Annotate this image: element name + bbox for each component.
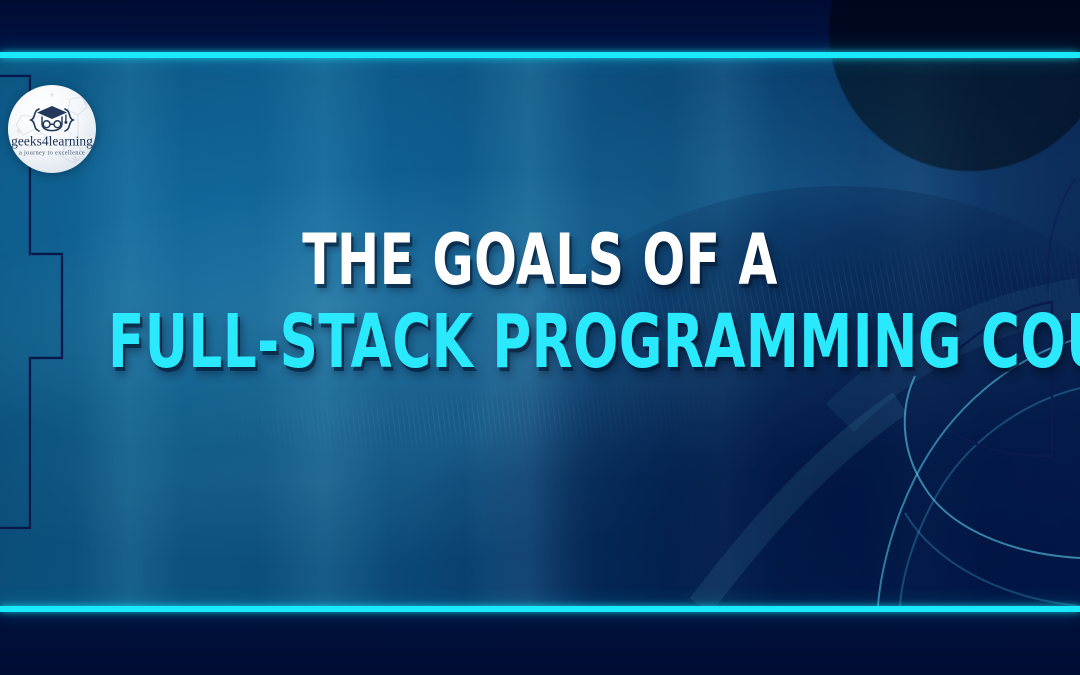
top-navy-band bbox=[0, 0, 1080, 53]
graduation-cap-icon: geeks4learning a journey to excellence bbox=[8, 85, 96, 173]
title-line-2: FULL-STACK PROGRAMMING COURSE bbox=[108, 308, 972, 378]
title-line-1: THE GOALS OF A bbox=[108, 228, 972, 294]
top-accent-bar bbox=[0, 52, 1080, 58]
bottom-accent-bar bbox=[0, 606, 1080, 612]
slide-canvas: geeks4learning a journey to excellence T… bbox=[0, 0, 1080, 675]
bottom-navy-band bbox=[0, 613, 1080, 675]
logo-tagline: a journey to excellence bbox=[19, 150, 85, 157]
logo-wordmark: geeks4learning bbox=[11, 134, 93, 149]
page-title: THE GOALS OF A FULL-STACK PROGRAMMING CO… bbox=[0, 228, 1080, 377]
geeks4learning-logo[interactable]: geeks4learning a journey to excellence bbox=[8, 85, 96, 173]
